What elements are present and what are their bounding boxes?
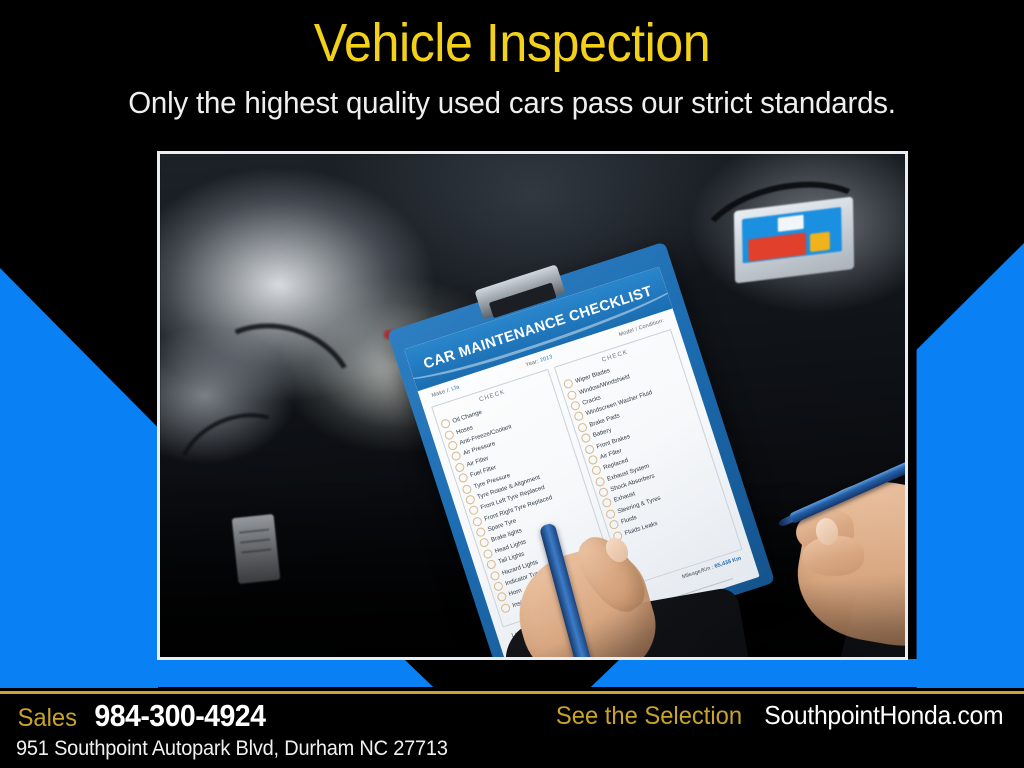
see-the-selection-label: See the Selection xyxy=(556,702,742,731)
sales-phone-line: Sales 984-300-4924 xyxy=(16,698,470,734)
checklist-meta-year: Year: 2013 xyxy=(525,354,553,368)
dealership-address: 951 Southpoint Autopark Blvd, Durham NC … xyxy=(16,737,448,761)
footer-contact-block: Sales 984-300-4924 951 Southpoint Autopa… xyxy=(16,698,470,761)
checklist-meta-make: Make /: Lfa xyxy=(431,384,460,399)
hero-photo-frame: CAR MAINTENANCE CHECKLIST Make /: Lfa Ye… xyxy=(157,151,908,660)
checkbox-circle-icon[interactable] xyxy=(500,602,511,613)
sales-label: Sales xyxy=(18,704,77,733)
page-title: Vehicle Inspection xyxy=(36,12,988,74)
car-battery xyxy=(733,197,853,284)
hero-photo: CAR MAINTENANCE CHECKLIST Make /: Lfa Ye… xyxy=(160,154,905,657)
sales-phone-number[interactable]: 984-300-4924 xyxy=(94,698,265,734)
page-subtitle: Only the highest quality used cars pass … xyxy=(26,84,999,122)
blue-wedge-left xyxy=(0,268,158,688)
footer-website-block: See the Selection SouthpointHonda.com xyxy=(551,700,1010,731)
band-notch-shape xyxy=(404,659,620,688)
vehicle-inspection-ad: Vehicle Inspection Only the highest qual… xyxy=(0,0,1024,768)
website-link[interactable]: SouthpointHonda.com xyxy=(765,700,1004,731)
footer: Sales 984-300-4924 951 Southpoint Autopa… xyxy=(0,694,1024,768)
